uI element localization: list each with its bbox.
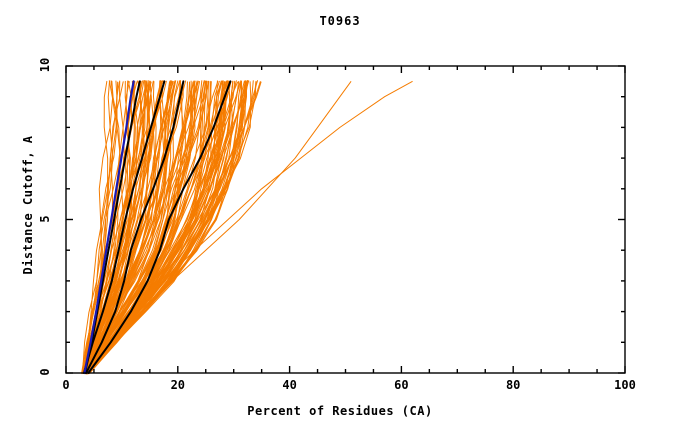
- x-tick-label-20: 20: [171, 378, 185, 392]
- x-tick-label-60: 60: [394, 378, 408, 392]
- x-tick-label-80: 80: [506, 378, 520, 392]
- x-tick-label-0: 0: [62, 378, 69, 392]
- y-tick-label-0: 0: [38, 357, 52, 387]
- y-tick-label-5: 5: [38, 204, 52, 234]
- chart-container: T0963 Distance Cutoff, A Percent of Resi…: [0, 0, 680, 440]
- x-tick-label-100: 100: [614, 378, 636, 392]
- x-tick-label-40: 40: [282, 378, 296, 392]
- y-tick-label-10: 10: [38, 50, 52, 80]
- plot-area: [0, 0, 680, 440]
